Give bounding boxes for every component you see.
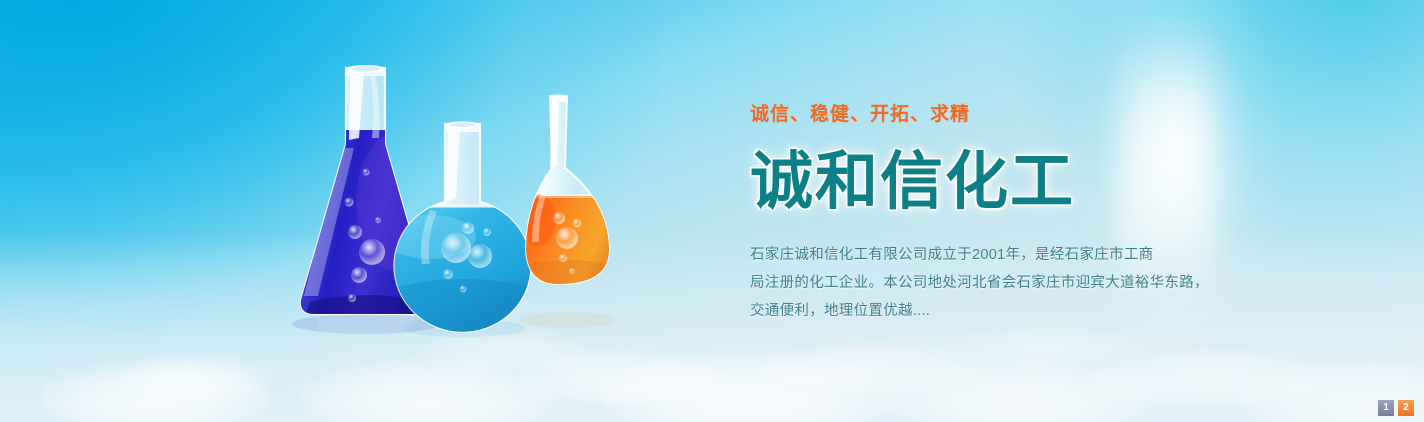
carousel-pagination[interactable]: 1 2 [1378, 400, 1414, 416]
banner-tagline: 诚信、稳健、开拓、求精 [750, 104, 1270, 127]
banner-description: 石家庄诚和信化工有限公司成立于2001年，是经石家庄市工商 局注册的化工企业。本… [750, 241, 1220, 325]
description-line: 石家庄诚和信化工有限公司成立于2001年，是经石家庄市工商 [750, 241, 1220, 269]
pagination-item-1[interactable]: 1 [1378, 400, 1394, 416]
pear-flask-orange [520, 94, 620, 296]
pagination-item-2[interactable]: 2 [1398, 400, 1414, 416]
hero-banner: 诚信、稳健、开拓、求精 诚和信化工 石家庄诚和信化工有限公司成立于2001年，是… [0, 0, 1424, 422]
banner-copy: 诚信、稳健、开拓、求精 诚和信化工 石家庄诚和信化工有限公司成立于2001年，是… [750, 104, 1270, 325]
description-line: 局注册的化工企业。本公司地处河北省会石家庄市迎宾大道裕华东路， [750, 269, 1220, 297]
description-line: 交通便利，地理位置优越.... [750, 297, 1220, 325]
chemistry-flasks-illustration [280, 52, 630, 352]
round-bottom-flask-cyan [384, 121, 540, 337]
banner-headline: 诚和信化工 [750, 149, 1270, 215]
